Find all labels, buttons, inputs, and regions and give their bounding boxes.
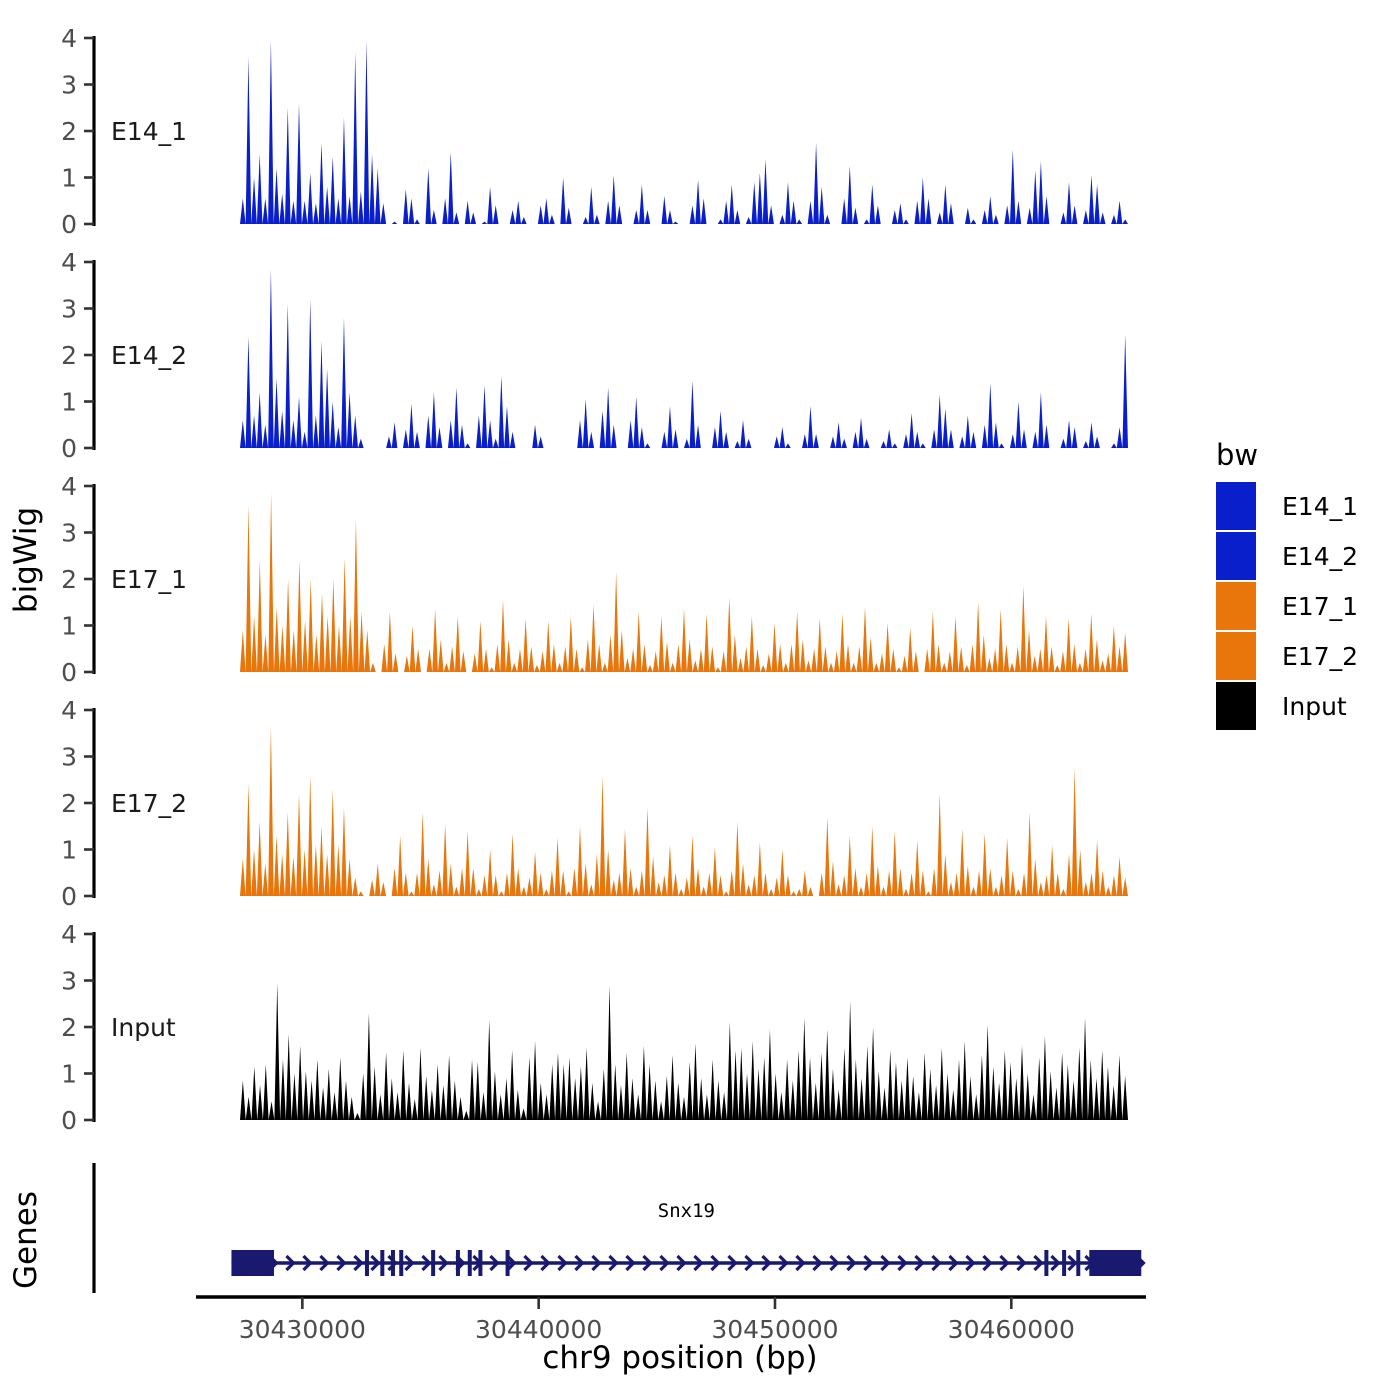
genome-browser-figure: bigWig Genes 43210E14_143210E14_243210E1… [0, 0, 1400, 1400]
track-name-label: E17_2 [111, 789, 187, 818]
y-tick-label: 1 [61, 388, 77, 417]
y-tick-label: 3 [61, 743, 77, 772]
y-tick-label: 2 [61, 565, 77, 594]
legend-label: E17_1 [1282, 592, 1358, 621]
y-tick-label: 1 [61, 1060, 77, 1089]
gene-exon-block [399, 1250, 403, 1276]
legend-label: E17_2 [1282, 642, 1358, 671]
y-tick-label: 0 [61, 882, 77, 911]
y-tick-label: 3 [61, 519, 77, 548]
y-tick-label: 0 [61, 658, 77, 687]
y-tick-label: 3 [61, 71, 77, 100]
y-tick-label: 2 [61, 117, 77, 146]
gene-exon-block [468, 1250, 472, 1276]
legend-title: bw [1216, 438, 1258, 472]
y-tick-label: 4 [61, 472, 77, 501]
gene-exon-block [1089, 1250, 1141, 1276]
figure-canvas: bigWig Genes 43210E14_143210E14_243210E1… [0, 0, 1400, 1400]
gene-name-label: Snx19 [658, 1200, 715, 1222]
gene-exon-block [1044, 1250, 1048, 1276]
y-tick-label: 0 [61, 1106, 77, 1135]
y-tick-label: 3 [61, 295, 77, 324]
legend-swatch [1216, 582, 1256, 630]
x-tick-label: 30430000 [239, 1315, 366, 1344]
y-tick-label: 1 [61, 836, 77, 865]
gene-exon-block [506, 1250, 510, 1276]
y-tick-label: 4 [61, 920, 77, 949]
gene-exon-block [380, 1250, 384, 1276]
y-tick-label: 1 [61, 612, 77, 641]
track-name-label: E14_1 [111, 117, 187, 146]
y-tick-label: 2 [61, 1013, 77, 1042]
track-name-label: E14_2 [111, 341, 187, 370]
x-tick-label: 30460000 [948, 1315, 1075, 1344]
gene-exon-block [431, 1250, 435, 1276]
genes-axis-title: Genes [8, 1191, 44, 1289]
legend-label: E14_1 [1282, 492, 1358, 521]
track-name-label: E17_1 [111, 565, 187, 594]
gene-exon-block [231, 1250, 274, 1276]
legend-label: E14_2 [1282, 542, 1358, 571]
legend-label: Input [1282, 692, 1347, 721]
y-tick-label: 2 [61, 341, 77, 370]
gene-exon-block [365, 1250, 369, 1276]
y-tick-label: 2 [61, 789, 77, 818]
y-tick-label: 3 [61, 967, 77, 996]
y-axis-title: bigWig [8, 507, 44, 613]
gene-exon-block [1062, 1250, 1066, 1276]
legend-swatch [1216, 682, 1256, 730]
gene-exon-block [1076, 1250, 1080, 1276]
legend-swatch [1216, 482, 1256, 530]
gene-exon-block [456, 1250, 460, 1276]
gene-exon-block [478, 1250, 482, 1276]
y-tick-label: 1 [61, 164, 77, 193]
x-axis-title: chr9 position (bp) [542, 1340, 817, 1376]
y-tick-label: 4 [61, 248, 77, 277]
legend-swatch [1216, 632, 1256, 680]
track-name-label: Input [111, 1013, 176, 1042]
gene-exon-block [391, 1250, 395, 1276]
figure-background [0, 0, 1400, 1400]
y-tick-label: 4 [61, 696, 77, 725]
y-tick-label: 0 [61, 210, 77, 239]
legend-swatch [1216, 532, 1256, 580]
y-tick-label: 4 [61, 24, 77, 53]
y-tick-label: 0 [61, 434, 77, 463]
legend-items[interactable]: E14_1E14_2E17_1E17_2Input [1216, 482, 1358, 730]
